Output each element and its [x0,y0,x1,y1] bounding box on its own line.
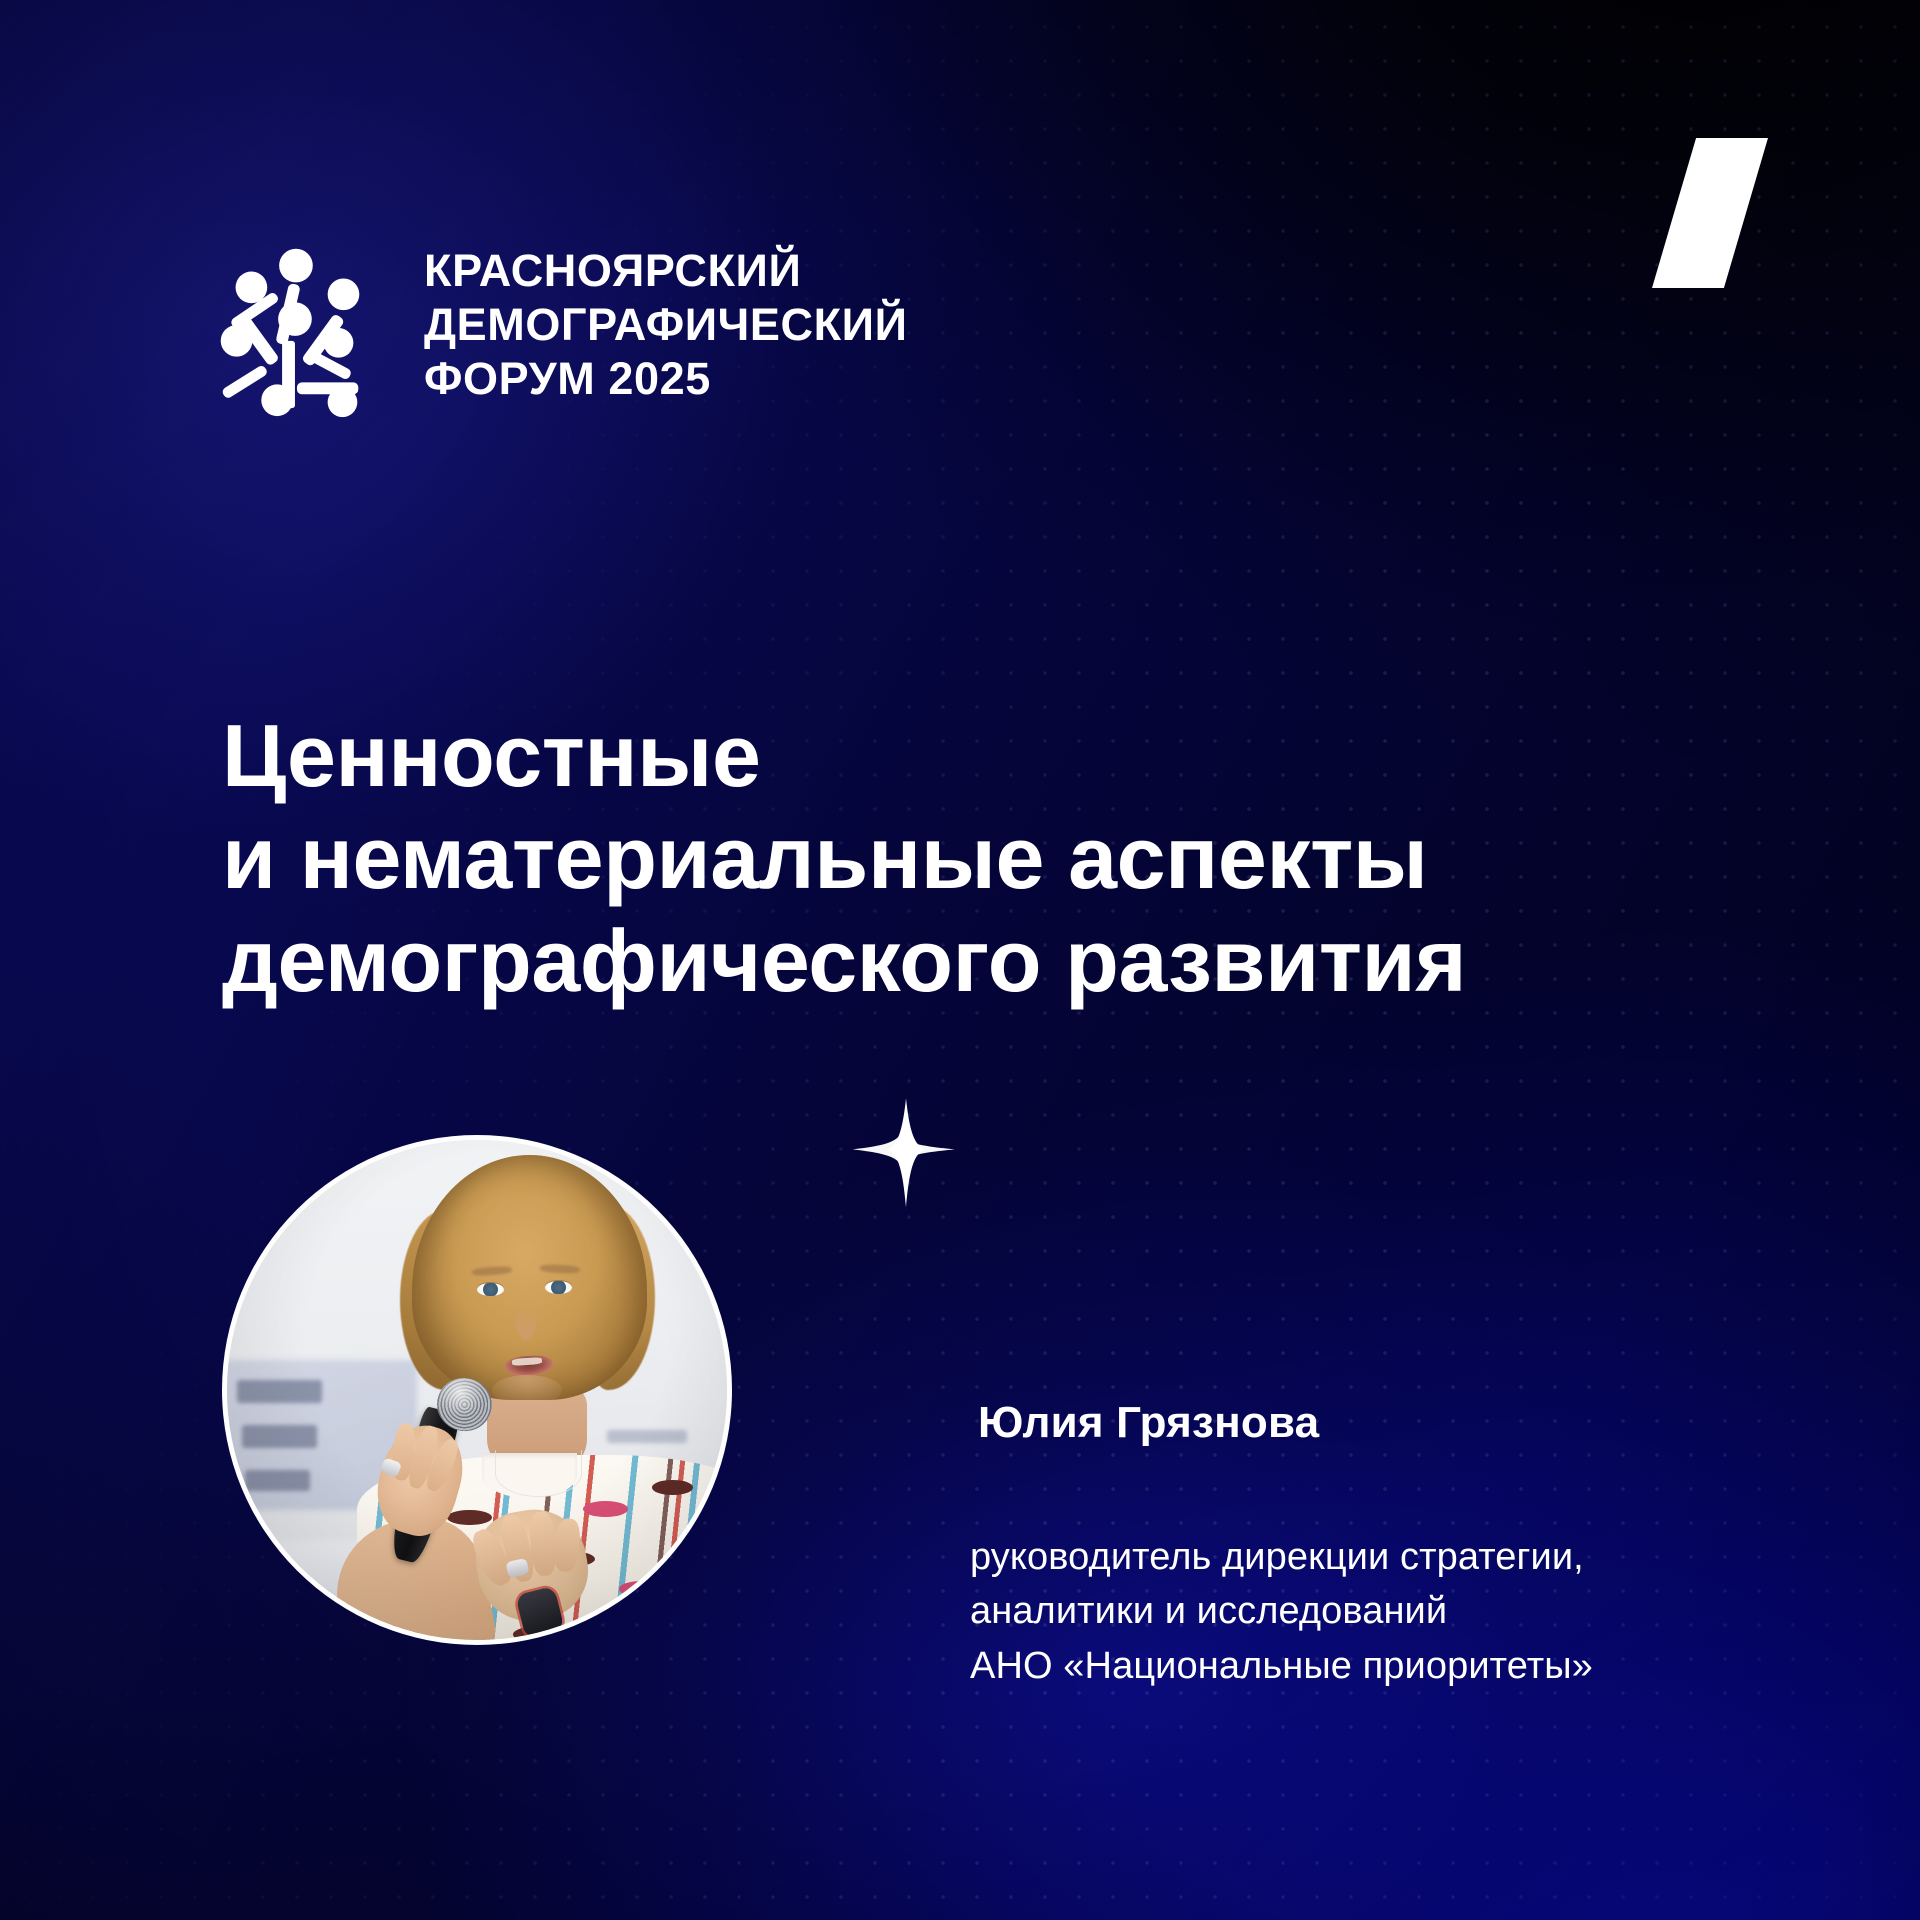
demographic-tree-logo-icon [192,226,390,424]
presentation-slide: КРАСНОЯРСКИЙ ДЕМОГРАФИЧЕСКИЙ ФОРУМ 2025 … [0,0,1920,1920]
four-point-sparkle-icon [848,1096,964,1212]
speaker-name: Юлия Грязнова [978,1398,1319,1448]
speaker-photo [227,1140,727,1640]
slide-title: Ценностные и нематериальные аспекты демо… [222,705,1722,1013]
forum-logo: КРАСНОЯРСКИЙ ДЕМОГРАФИЧЕСКИЙ ФОРУМ 2025 [192,226,908,424]
speaker-role: руководитель дирекции стратегии, аналити… [970,1530,1593,1693]
photo-shading [227,1140,727,1640]
forum-logo-text: КРАСНОЯРСКИЙ ДЕМОГРАФИЧЕСКИЙ ФОРУМ 2025 [424,244,908,407]
speaker-avatar [222,1135,732,1645]
